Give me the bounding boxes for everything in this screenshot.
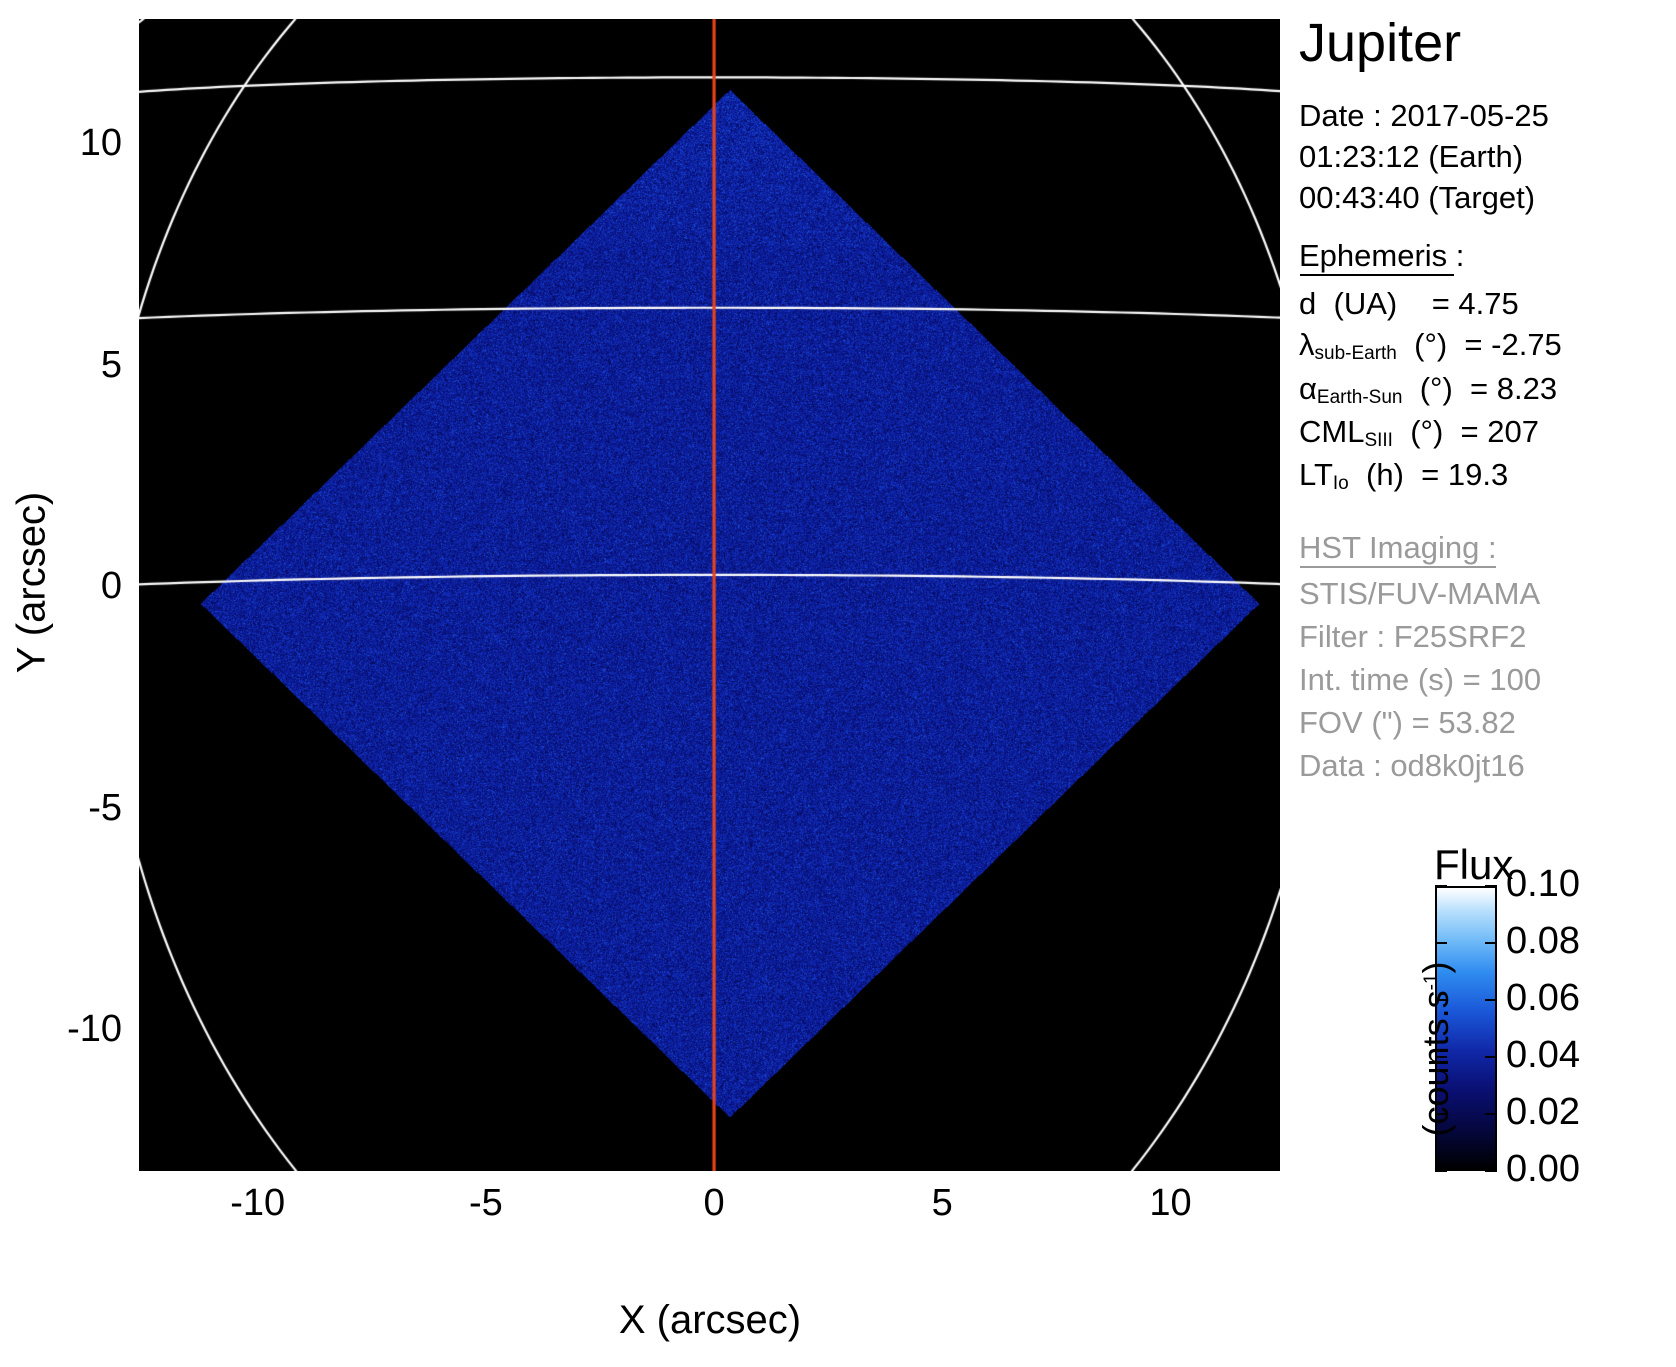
ephemeris-row-sub-earth-latitude: λsub-Earth (°) = -2.75 (1299, 329, 1562, 360)
colorbar-tick (1485, 942, 1497, 944)
ephemeris-subscript: SIII (1364, 430, 1393, 451)
colorbar-tick (1435, 885, 1447, 887)
x-tick-label: -5 (406, 1182, 566, 1225)
ephemeris-unit: (°) (1414, 327, 1447, 362)
x-tick-label: 10 (1090, 1182, 1250, 1225)
x-axis-title: X (arcsec) (420, 1298, 1000, 1343)
instrument-integration-time: Int. time (s) = 100 (1299, 664, 1541, 695)
target-title: Jupiter (1299, 16, 1461, 70)
ephemeris-row-distance: d (UA) = 4.75 (1299, 288, 1519, 319)
colorbar-tick (1435, 942, 1447, 944)
ephemeris-unit: (°) (1410, 414, 1443, 449)
ephemeris-row-io-local-time: LTIo (h) = 19.3 (1299, 459, 1508, 490)
instrument-header: HST Imaging : (1299, 530, 1497, 566)
ephemeris-symbol: LT (1299, 457, 1333, 492)
ephemeris-value: = -2.75 (1464, 327, 1561, 362)
colorbar-tick (1485, 885, 1497, 887)
colorbar-tick (1435, 1056, 1447, 1058)
colorbar-unit-label: (counts.s-1) (1415, 899, 1457, 1199)
colorbar-unit-exponent: -1 (1421, 974, 1442, 991)
colorbar-tick (1485, 999, 1497, 1001)
colorbar-tick (1485, 1170, 1497, 1172)
ephemeris-value: = 8.23 (1470, 371, 1557, 406)
colorbar-unit-paren: ) (1415, 962, 1456, 974)
ephemeris-symbol: α (1299, 371, 1317, 406)
instrument-rule (1300, 566, 1496, 568)
colorbar-tick-label: 0.06 (1506, 979, 1580, 1017)
ephemeris-value: = 19.3 (1421, 457, 1508, 492)
colorbar-tick-label: 0.00 (1506, 1150, 1580, 1188)
ephemeris-header: Ephemeris : (1299, 238, 1464, 274)
y-tick-label: 5 (12, 344, 122, 387)
aurora-heatmap-canvas (139, 19, 1280, 1171)
instrument-fov: FOV (") = 53.82 (1299, 707, 1516, 738)
ephemeris-row-cml: CMLSIII (°) = 207 (1299, 416, 1539, 447)
x-tick-label: 0 (634, 1182, 794, 1225)
y-tick-label: -10 (12, 1008, 122, 1051)
ephemeris-unit: (UA) (1334, 286, 1398, 321)
observation-time-target: 00:43:40 (Target) (1299, 182, 1535, 213)
x-tick-label: -10 (178, 1182, 338, 1225)
colorbar-tick (1435, 1113, 1447, 1115)
colorbar-tick (1435, 999, 1447, 1001)
ephemeris-unit: (h) (1366, 457, 1404, 492)
colorbar-tick-label: 0.04 (1506, 1036, 1580, 1074)
ephemeris-subscript: sub-Earth (1315, 343, 1397, 364)
ephemeris-row-phase-angle: αEarth-Sun (°) = 8.23 (1299, 373, 1557, 404)
ephemeris-rule (1300, 274, 1454, 276)
aurora-image-plot (139, 19, 1280, 1171)
ephemeris-subscript: Earth-Sun (1317, 387, 1403, 408)
observation-time-earth: 01:23:12 (Earth) (1299, 141, 1523, 172)
colorbar-tick-label: 0.08 (1506, 922, 1580, 960)
y-axis-title: Y (arcsec) (10, 433, 55, 733)
x-tick-label: 5 (862, 1182, 1022, 1225)
colorbar-tick (1485, 1056, 1497, 1058)
colorbar-tick (1485, 1113, 1497, 1115)
y-tick-label: -5 (12, 787, 122, 830)
instrument-filter: Filter : F25SRF2 (1299, 621, 1526, 652)
colorbar-tick-label: 0.10 (1506, 865, 1580, 903)
ephemeris-symbol: λ (1299, 327, 1315, 362)
ephemeris-value: = 4.75 (1432, 286, 1519, 321)
instrument-dataset-id: Data : od8k0jt16 (1299, 750, 1525, 781)
instrument-detector: STIS/FUV-MAMA (1299, 578, 1540, 609)
ephemeris-unit: (°) (1420, 371, 1453, 406)
ephemeris-subscript: Io (1333, 473, 1349, 494)
colorbar-tick (1435, 1170, 1447, 1172)
ephemeris-value: = 207 (1461, 414, 1539, 449)
y-tick-label: 10 (12, 122, 122, 165)
colorbar-title: Flux (1434, 841, 1513, 889)
ephemeris-symbol: CML (1299, 414, 1364, 449)
y-tick-label: 0 (12, 565, 122, 608)
ephemeris-symbol: d (1299, 286, 1316, 321)
colorbar-tick-label: 0.02 (1506, 1093, 1580, 1131)
observation-date: Date : 2017-05-25 (1299, 100, 1549, 131)
